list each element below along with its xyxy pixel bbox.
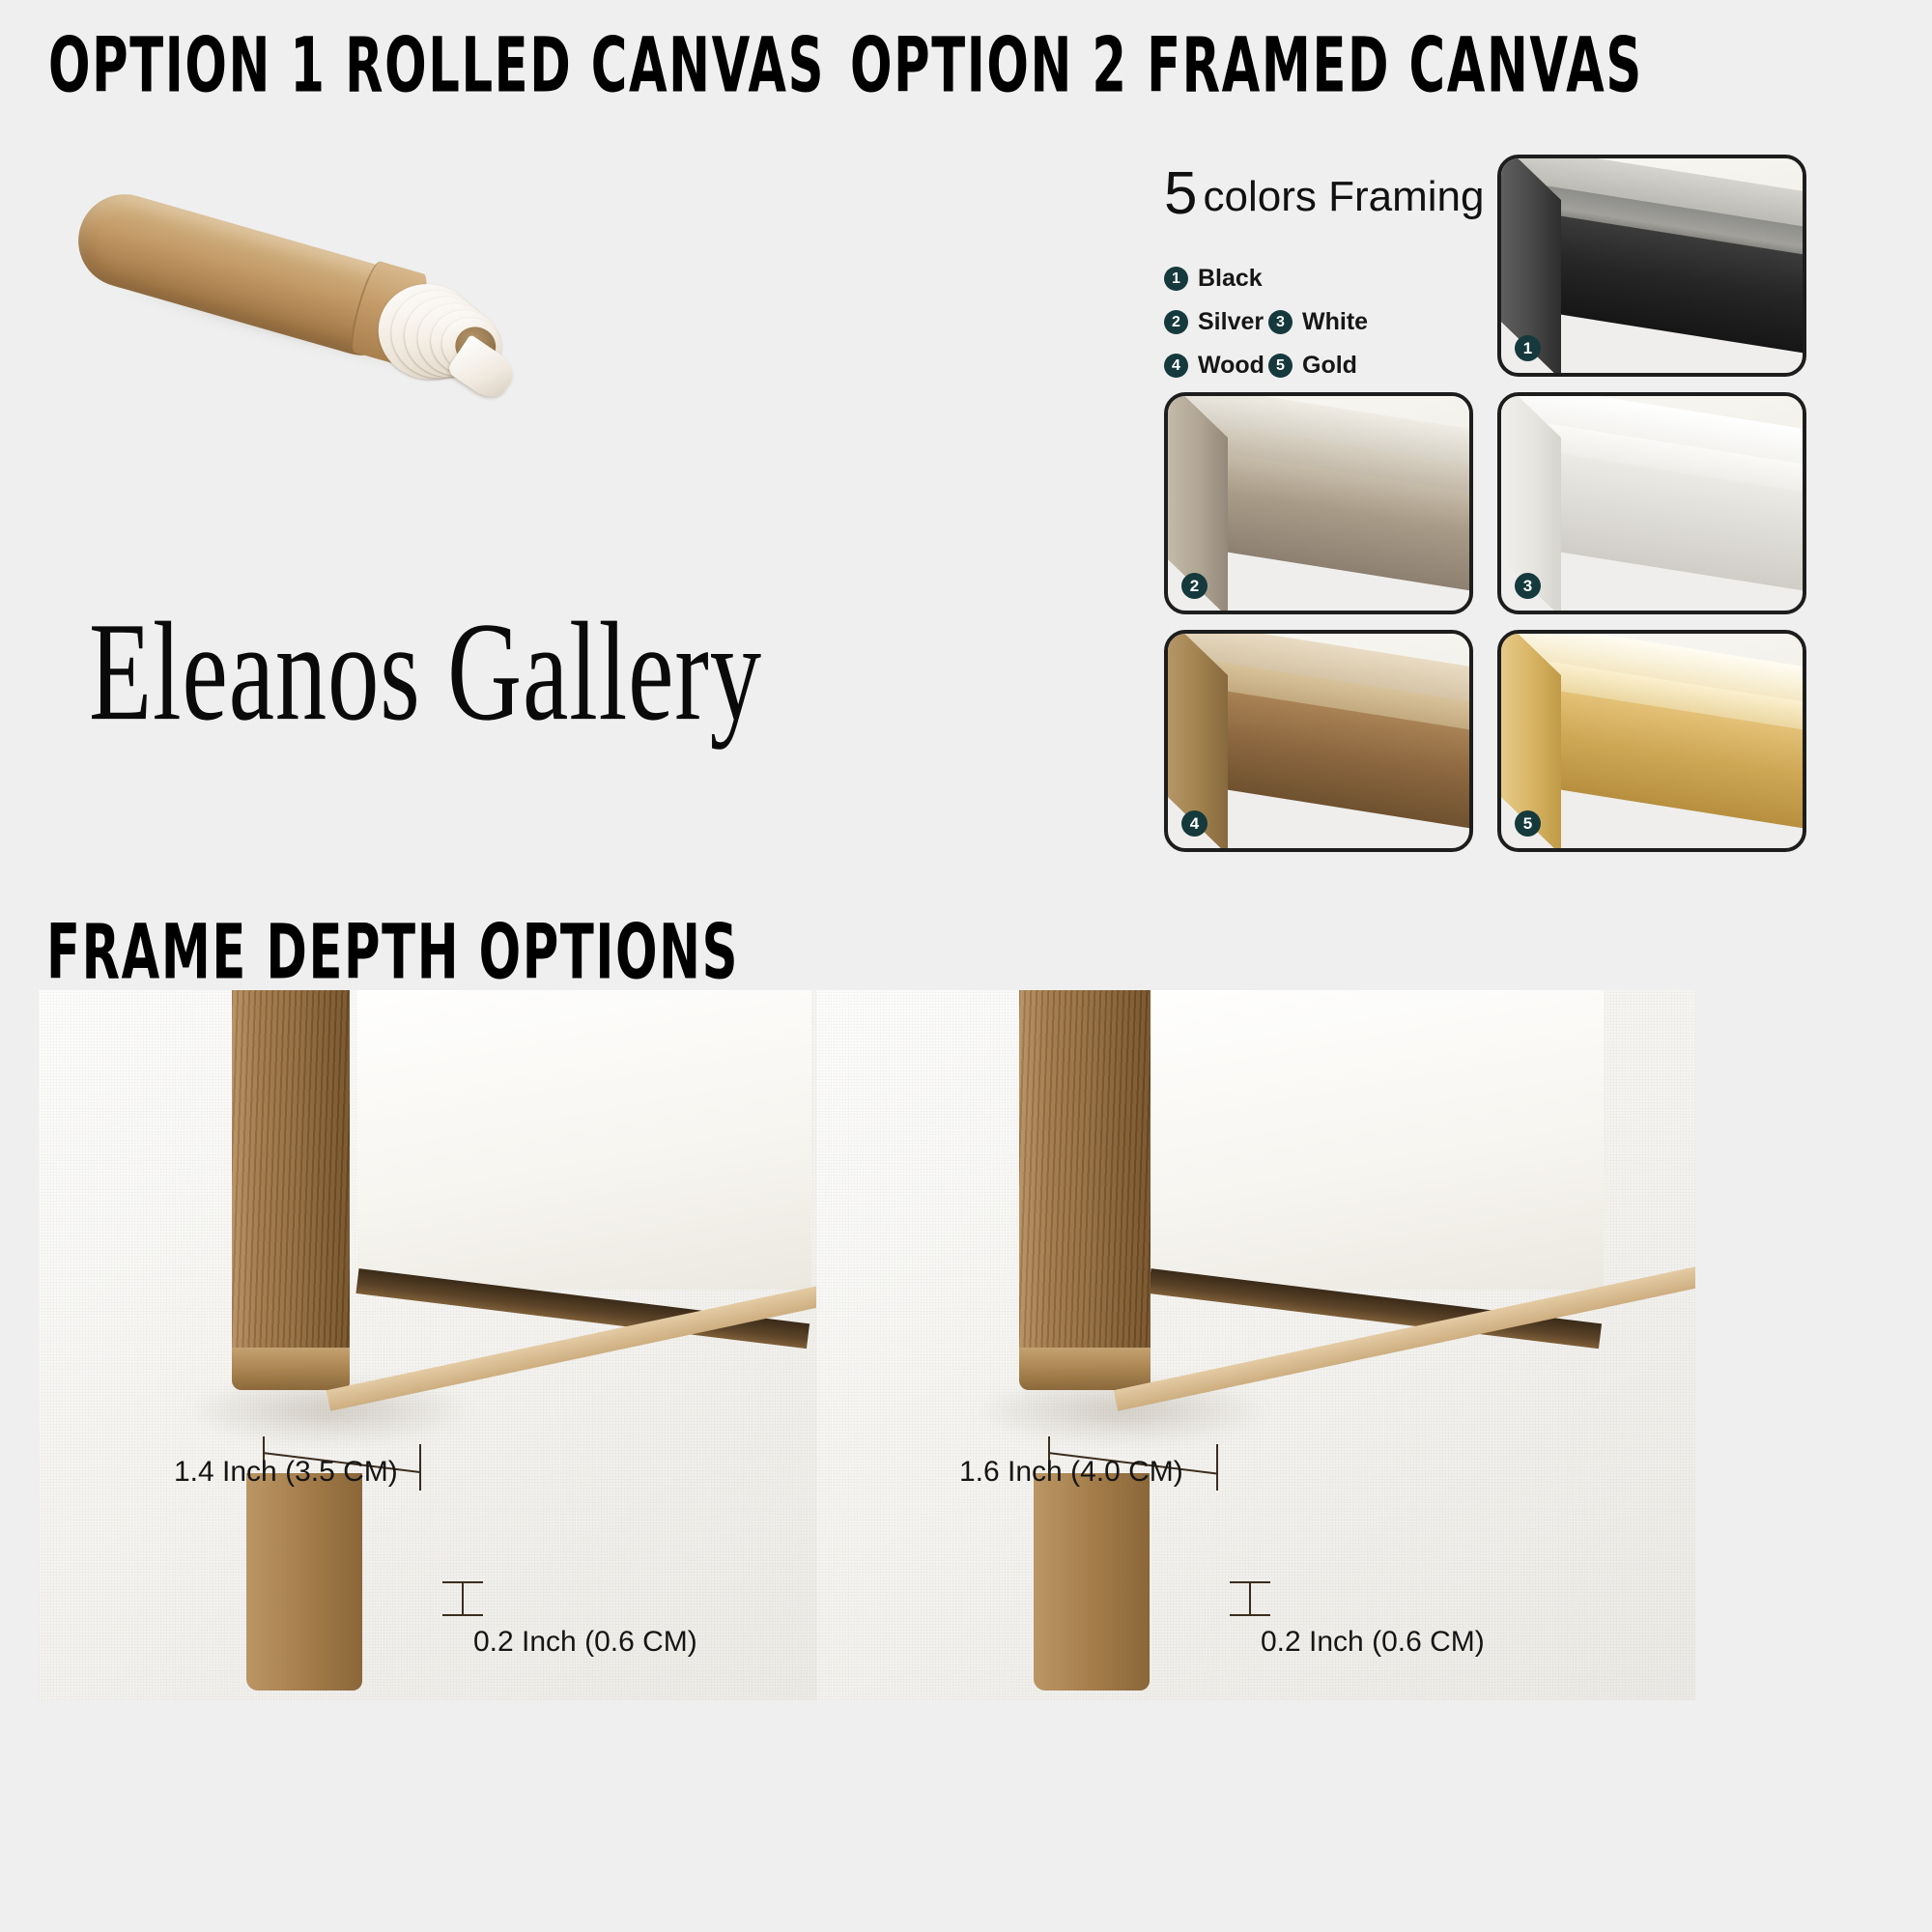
frame-face-width-right: 0.2 Inch (0.6 CM)	[1261, 1626, 1485, 1659]
frame-stile-vertical	[1019, 990, 1151, 1348]
badge-number-icon: 5	[1515, 810, 1541, 837]
badge-number-icon: 1	[1515, 335, 1541, 361]
rolled-canvas-end	[365, 269, 523, 408]
frame-rail-corner	[1034, 1473, 1150, 1690]
badge-number-icon: 4	[1181, 810, 1207, 837]
framing-colors-legend: 5colors Framing 1 Black 2 Silver 3 White	[1164, 164, 1492, 395]
framing-count: 5	[1164, 160, 1197, 227]
legend-item-wood[interactable]: 4 Wood	[1164, 352, 1268, 380]
badge-number-icon: 2	[1164, 310, 1188, 334]
badge-number-icon: 5	[1268, 354, 1293, 378]
legend-label: White	[1302, 308, 1368, 336]
badge-number-icon: 3	[1268, 310, 1293, 334]
legend-label: Wood	[1198, 352, 1264, 380]
frame-depth-photo-right: 1.6 Inch (4.0 CM) 0.2 Inch (0.6 CM)	[816, 990, 1695, 1700]
inner-canvas-panel	[1150, 990, 1604, 1290]
legend-label: Black	[1198, 265, 1263, 293]
option1-heading: OPTION 1 ROLLED CANVAS	[48, 23, 825, 110]
inner-canvas-panel	[357, 990, 811, 1290]
frame-face-width-left: 0.2 Inch (0.6 CM)	[473, 1626, 697, 1659]
frame-sample-gold[interactable]: 5	[1497, 630, 1806, 852]
frame-rail-corner	[246, 1473, 362, 1690]
legend-row: 4 Wood 5 Gold	[1164, 352, 1492, 380]
brand-wordmark: Eleanos Gallery	[89, 591, 762, 753]
legend-row: 1 Black	[1164, 265, 1492, 293]
frame-sample-silver[interactable]: 2	[1164, 392, 1473, 614]
badge-number-icon: 3	[1515, 573, 1541, 599]
frame-corner-photo	[1501, 396, 1803, 611]
frame-corner-photo	[1168, 396, 1469, 611]
badge-number-icon: 4	[1164, 354, 1188, 378]
frame-depth-value-right: 1.6 Inch (4.0 CM)	[959, 1456, 1183, 1489]
legend-row: 2 Silver 3 White	[1164, 308, 1492, 336]
frame-sample-white[interactable]: 3	[1497, 392, 1806, 614]
frame-sample-black[interactable]: 1	[1497, 155, 1806, 377]
framing-legend-title: 5colors Framing	[1164, 164, 1492, 224]
framing-title-rest: colors Framing	[1203, 173, 1484, 220]
frame-depth-photo-left: 1.4 Inch (3.5 CM) 0.2 Inch (0.6 CM)	[39, 990, 918, 1700]
legend-label: Silver	[1198, 308, 1264, 336]
legend-item-silver[interactable]: 2 Silver	[1164, 308, 1268, 336]
product-infographic: OPTION 1 ROLLED CANVAS Eleanos Gallery O…	[0, 0, 1932, 1932]
frame-sample-wood[interactable]: 4	[1164, 630, 1473, 852]
frame-corner-photo	[1168, 634, 1469, 848]
frame-corner-photo	[1501, 158, 1803, 373]
legend-label: Gold	[1302, 352, 1357, 380]
frame-stile-vertical	[232, 990, 350, 1348]
badge-number-icon: 2	[1181, 573, 1207, 599]
legend-item-black[interactable]: 1 Black	[1164, 265, 1268, 293]
frame-corner-photo	[1501, 634, 1803, 848]
badge-number-icon: 1	[1164, 267, 1188, 291]
legend-item-white[interactable]: 3 White	[1268, 308, 1373, 336]
frame-depth-value-left: 1.4 Inch (3.5 CM)	[174, 1456, 398, 1489]
option2-heading: OPTION 2 FRAMED CANVAS	[850, 23, 1643, 110]
framing-legend-rows: 1 Black 2 Silver 3 White 4 Wood	[1164, 265, 1492, 380]
frame-depth-heading: FRAME DEPTH OPTIONS	[46, 910, 739, 997]
rolled-canvas-tube-illustration	[72, 145, 526, 386]
legend-item-gold[interactable]: 5 Gold	[1268, 352, 1373, 380]
